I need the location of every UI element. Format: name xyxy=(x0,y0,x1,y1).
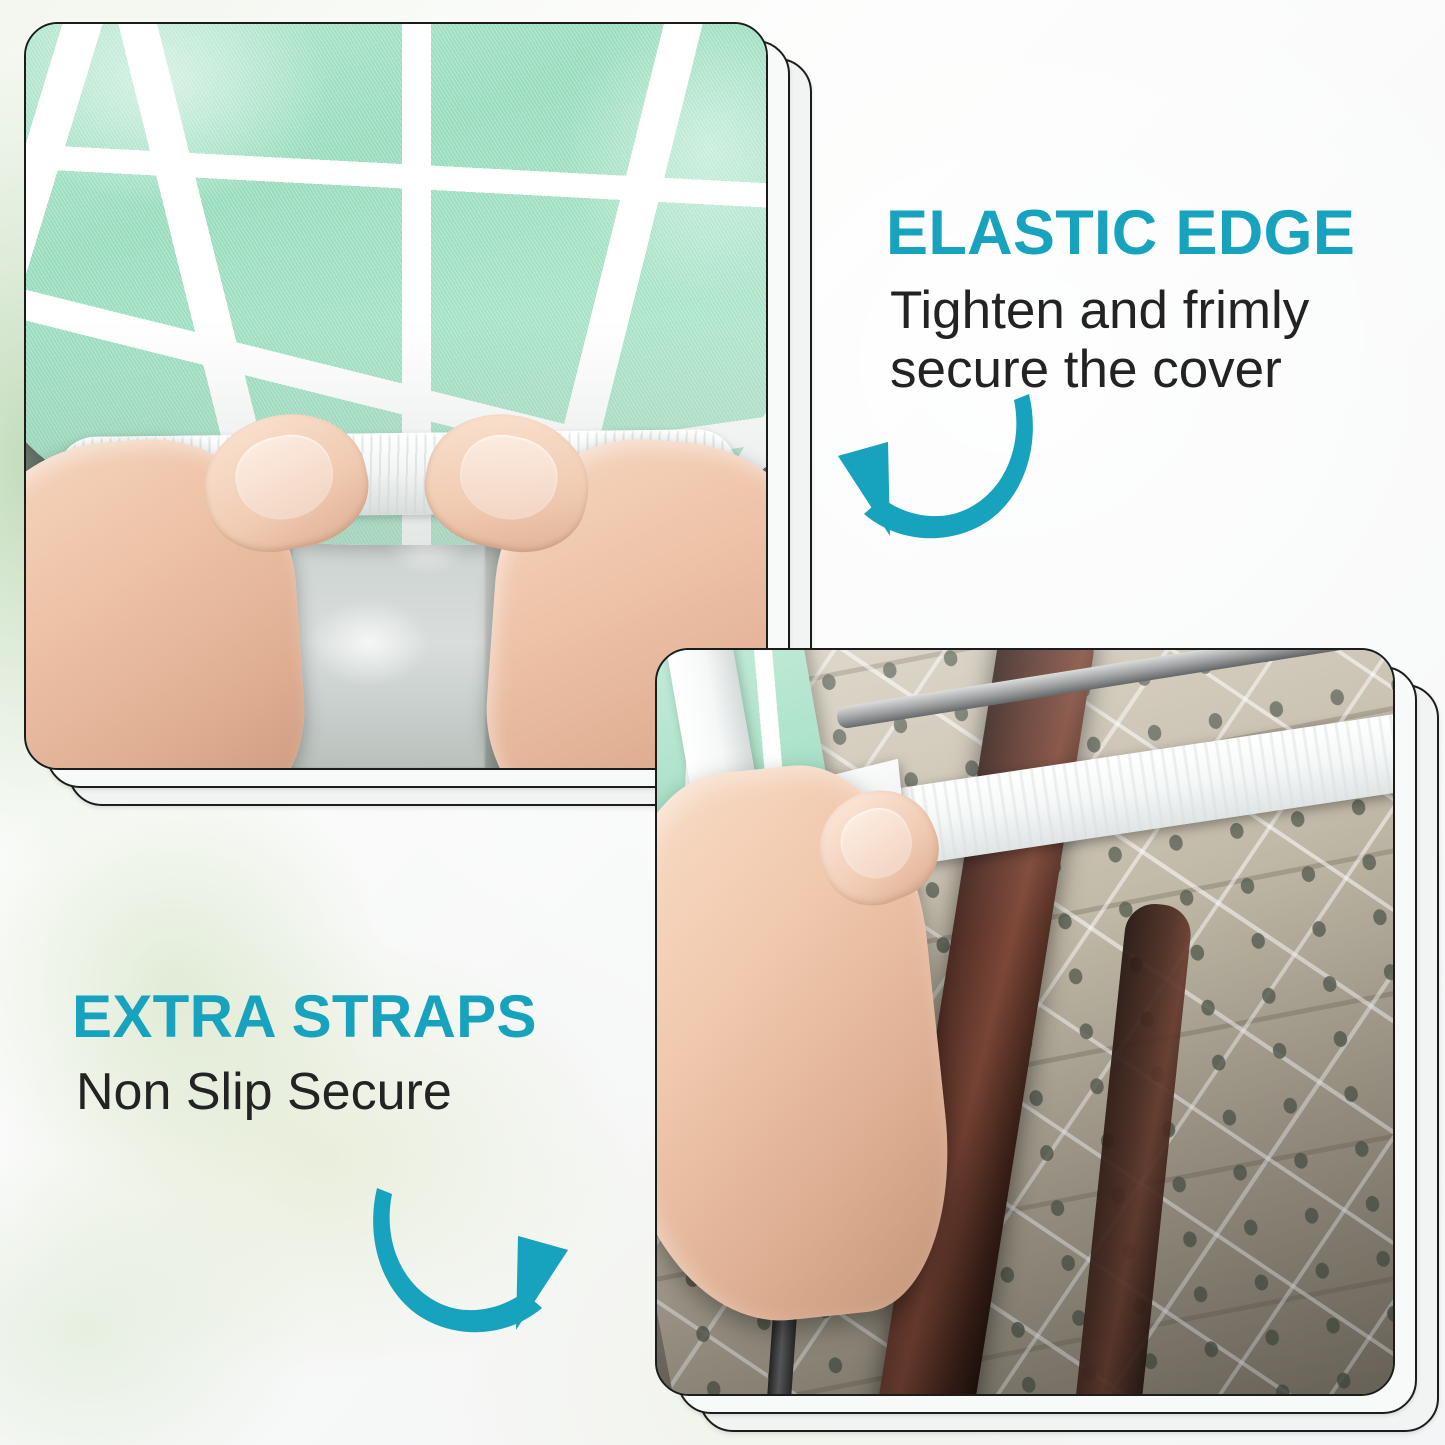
elastic-edge-heading: ELASTIC EDGE xyxy=(886,202,1355,265)
extra-straps-subtitle-line1: Non Slip Secure xyxy=(76,1063,536,1121)
right-thumb-nail xyxy=(451,427,564,529)
thumb-nail xyxy=(831,799,922,890)
extra-straps-photo xyxy=(655,648,1395,1396)
infographic-canvas: ELASTIC EDGE Tighten and frimly secure t… xyxy=(0,0,1445,1445)
curved-arrow-left-icon xyxy=(826,386,1066,556)
left-thumb-nail xyxy=(228,427,341,529)
extra-straps-subtitle: Non Slip Secure xyxy=(76,1063,536,1121)
elastic-edge-subtitle-line1: Tighten and frimly xyxy=(890,281,1360,340)
elastic-edge-subtitle: Tighten and frimly secure the cover xyxy=(890,281,1360,400)
curved-arrow-right-icon xyxy=(340,1180,580,1350)
extra-straps-heading: EXTRA STRAPS xyxy=(72,987,537,1047)
extra-straps-photo-card xyxy=(655,648,1445,1445)
